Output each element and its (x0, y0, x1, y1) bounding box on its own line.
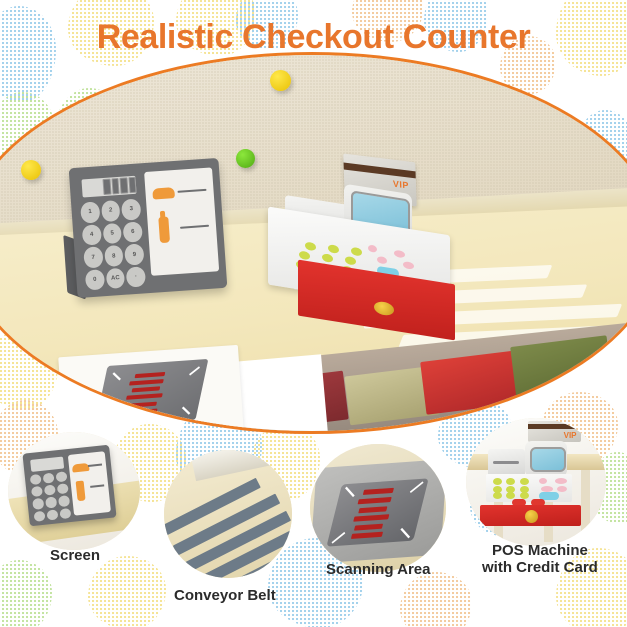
bottle-neck-icon (160, 210, 166, 218)
callout-label-screen-text: Screen (50, 547, 100, 564)
calculator-screen-device[interactable]: 1 2 3 4 5 6 7 8 9 0 AC · (69, 158, 228, 298)
callout-pos-card: VIP (528, 421, 581, 443)
bottle-icon (158, 216, 170, 243)
scanner-corner-arrow (112, 372, 120, 380)
callout-pos-key (493, 478, 502, 485)
callout-barcode-line (354, 515, 390, 523)
calc-key[interactable]: 3 (121, 199, 141, 221)
calc-key[interactable]: 6 (123, 221, 143, 243)
barcode-line (126, 394, 163, 401)
pos-number-key[interactable] (328, 243, 339, 253)
callout-barcode-line (364, 489, 395, 496)
callout-label-scanning-text: Scanning Area (326, 561, 430, 578)
scanner-pad (94, 359, 208, 427)
pos-number-key[interactable] (305, 241, 316, 251)
decor-blob-yellow-7 (88, 556, 166, 627)
decor-blob-orange-5 (400, 572, 472, 627)
callout-pos-body (486, 474, 573, 502)
pos-number-key[interactable] (345, 256, 356, 266)
pos-number-key[interactable] (299, 250, 310, 260)
barcode-line (125, 408, 158, 414)
callout-label-pos-line2: with Credit Card (482, 560, 598, 577)
callout-barcode-line (359, 506, 388, 513)
callout-screen-display (31, 456, 65, 472)
scanner-corner-arrow (103, 411, 114, 420)
callout-price-line (88, 463, 103, 467)
pos-machine[interactable]: VIP (251, 165, 463, 350)
callout-scanner-arrow (410, 482, 424, 494)
callout-scanner-arrow (346, 487, 356, 497)
calc-key[interactable]: 5 (102, 223, 122, 245)
pos-function-key[interactable] (377, 255, 387, 264)
callout-barcode-line (355, 524, 384, 531)
calc-key[interactable]: 7 (83, 247, 103, 269)
callout-pos-key (555, 478, 567, 484)
callout-label-screen: Screen (50, 548, 100, 565)
hero-scene: 1 2 3 4 5 6 7 8 9 0 AC · (0, 55, 627, 431)
scanning-plate[interactable] (61, 351, 241, 434)
callout-pos: VIP (466, 418, 606, 546)
calc-key[interactable]: 0 (85, 269, 105, 291)
callout-label-scanning: Scanning Area (326, 562, 430, 579)
callout-pos-key (557, 486, 567, 492)
callout-scanning (310, 444, 446, 572)
callout-barcode-line (351, 532, 384, 539)
calculator-body: 1 2 3 4 5 6 7 8 9 0 AC · (69, 158, 228, 298)
callout-screen-keypad (30, 471, 71, 521)
callout-drawer-knob (525, 510, 538, 523)
callout-label-pos-line1: POS Machine (482, 543, 598, 560)
callout-conveyor (164, 450, 292, 578)
callout-label-conveyor-text: Conveyor Belt (174, 587, 276, 604)
card-magnetic-stripe (344, 162, 416, 178)
callout-scanner-arrow (400, 528, 410, 538)
pos-number-key[interactable] (351, 246, 362, 256)
page-title: Realistic Checkout Counter (0, 18, 627, 57)
product-marketing-image: Realistic Checkout Counter (0, 0, 627, 627)
calc-key-dot[interactable]: · (126, 266, 146, 288)
callout-pos-slot (493, 461, 518, 465)
callout-card-stripe (528, 424, 581, 428)
callout-pos-key (520, 478, 529, 485)
callout-barcode-line (358, 497, 392, 504)
callout-pos-key (506, 478, 515, 485)
calc-key-ac[interactable]: AC (105, 268, 125, 290)
barcode-line (134, 372, 165, 378)
calc-key[interactable]: 1 (80, 201, 100, 223)
callout-pos-key (493, 492, 502, 499)
calc-key[interactable]: 9 (124, 244, 144, 266)
pos-number-key[interactable] (322, 253, 333, 263)
scanner-corner-arrow (181, 406, 189, 414)
pos-function-key[interactable] (403, 260, 414, 269)
callout-screen-device (23, 444, 117, 526)
pos-function-key[interactable] (394, 249, 405, 258)
pos-function-key[interactable] (368, 244, 377, 252)
price-line-1 (178, 189, 206, 193)
callout-scanner-pad (327, 479, 429, 548)
barcode-line (129, 379, 164, 385)
callout-label-conveyor: Conveyor Belt (174, 588, 276, 605)
callout-pos-key (541, 486, 553, 492)
callout-pos-screen-housing (525, 441, 567, 477)
callout-pos-key (539, 478, 547, 484)
burger-icon (152, 187, 175, 200)
callout-pos-leg (581, 470, 590, 537)
callout-label-pos: POS Machine with Credit Card (482, 543, 598, 577)
callout-pos-screen (530, 447, 566, 472)
calc-key[interactable]: 8 (104, 245, 124, 267)
calculator-keypad[interactable]: 1 2 3 4 5 6 7 8 9 0 AC · (80, 199, 146, 291)
callout-scanner-arrow (332, 532, 346, 544)
calculator-price-panel (144, 168, 219, 276)
callout-screen-panel (69, 451, 112, 516)
callout-pos-printer (488, 449, 524, 477)
calc-key[interactable]: 2 (101, 200, 121, 222)
calculator-display-digits (102, 175, 136, 195)
callout-screen (8, 432, 140, 550)
decor-blob-green-6 (0, 560, 52, 627)
scanner-corner-arrow (189, 366, 200, 375)
barcode-line (131, 386, 160, 392)
checkout-counter-hero-photo: 1 2 3 4 5 6 7 8 9 0 AC · (0, 52, 627, 434)
card-vip-label: VIP (393, 178, 409, 190)
callout-card-vip: VIP (564, 431, 577, 440)
callout-bottle-icon (76, 480, 86, 501)
barcode-line (128, 401, 157, 407)
yellow-ball-left (21, 160, 41, 180)
calc-key[interactable]: 4 (82, 224, 102, 246)
price-line-2 (180, 225, 208, 229)
callout-price-line (90, 484, 105, 488)
